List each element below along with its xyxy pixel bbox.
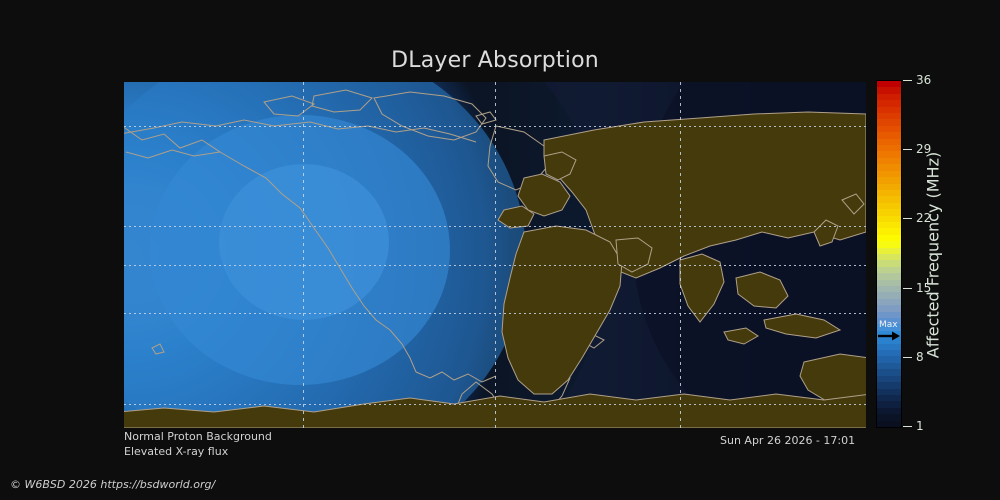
colorbar-axis-label: Affected Frequency (MHz) [921, 70, 945, 440]
colorbar-tick [903, 357, 912, 358]
colorbar-tick [903, 288, 912, 289]
colorbar-segment [877, 421, 901, 427]
colorbar-tick [903, 149, 912, 150]
world-map[interactable] [124, 82, 866, 428]
colorbar-gradient [876, 80, 902, 428]
colorbar-axis-label-text: Affected Frequency (MHz) [924, 152, 943, 358]
colorbar-max-arrow-icon [877, 330, 901, 342]
map-canvas [124, 82, 866, 428]
colorbar[interactable]: 3629221581 [876, 80, 902, 428]
status-note-xray: Elevated X-ray flux [124, 445, 228, 458]
colorbar-tick [903, 80, 912, 81]
copyright: © W6BSD 2026 https://bsdworld.org/ [10, 478, 215, 491]
colorbar-tick [903, 218, 912, 219]
status-note-proton: Normal Proton Background [124, 430, 272, 443]
colorbar-tick [903, 426, 912, 427]
dlayer-absorption-chart: DLayer Absorption [0, 0, 1000, 500]
page-title: DLayer Absorption [0, 48, 990, 73]
timestamp: Sun Apr 26 2026 - 17:01 [720, 434, 855, 447]
colorbar-max-label: Max [879, 320, 898, 330]
